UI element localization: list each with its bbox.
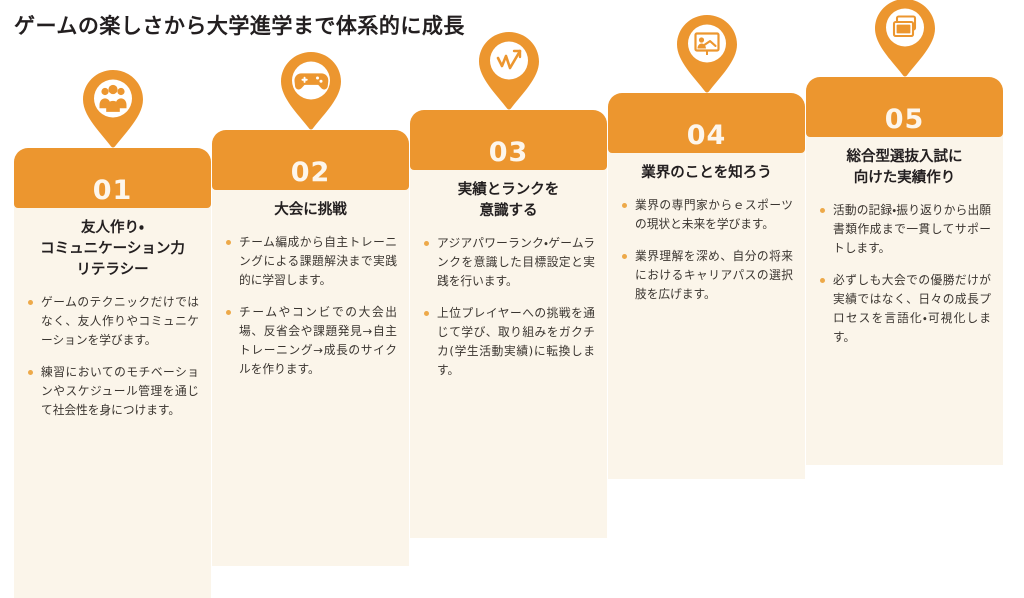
gamepad-icon (280, 52, 342, 130)
card-bullets-04: 業界の専門家からｅスポーツの現状と未来を学びます。 業界理解を深め、自分の将来に… (620, 196, 793, 304)
card-title-01: 友人作り・ コミュニケーション力 リテラシー (26, 218, 199, 281)
card-number-03: 03 (410, 139, 607, 166)
people-group-icon (82, 70, 144, 148)
list-item: チーム編成から自主トレーニングによる課題解決まで実践的に学習します。 (224, 233, 397, 290)
list-item: ゲームのテクニックだけではなく、友人作りやコミュニケーションを学びます。 (26, 293, 199, 350)
list-item: 上位プレイヤーへの挑戦を通じて学び、取り組みをガクチカ(学生活動実績)に転換しま… (422, 304, 595, 380)
trend-chart-icon (478, 32, 540, 110)
card-title-05: 総合型選抜入試に 向けた実績作り (818, 147, 991, 189)
stacked-windows-icon (874, 0, 936, 77)
card-bullets-02: チーム編成から自主トレーニングによる課題解決まで実践的に学習します。 チームやコ… (224, 233, 397, 379)
roadmap-cards: 01 友人作り・ コミュニケーション力 リテラシー ゲームのテクニックだけではな… (0, 55, 1024, 563)
card-title-02: 大会に挑戦 (224, 200, 397, 221)
list-item: 練習においてのモチベーションやスケジュール管理を通じて社会性を身につけます。 (26, 363, 199, 420)
card-header-01: 01 (14, 148, 211, 208)
card-header-04: 04 (608, 93, 805, 153)
card-number-02: 02 (212, 159, 409, 186)
list-item: チームやコンビでの大会出場、反省会や課題発見→自主トレーニング→成長のサイクルを… (224, 303, 397, 379)
card-header-05: 05 (806, 77, 1003, 137)
page-title: ゲームの楽しさから大学進学まで体系的に成長 (14, 10, 465, 40)
list-item: 必ずしも大会での優勝だけが実績ではなく、日々の成長プロセスを言語化・可視化します… (818, 271, 991, 347)
list-item: 活動の記録・振り返りから出願書類作成まで一貫してサポートします。 (818, 201, 991, 258)
card-bullets-03: アジアパワーランク・ゲームランクを意識した目標設定と実践を行います。 上位プレイ… (422, 234, 595, 380)
card-bullets-05: 活動の記録・振り返りから出願書類作成まで一貫してサポートします。 必ずしも大会で… (818, 201, 991, 347)
card-header-02: 02 (212, 130, 409, 190)
card-title-04: 業界のことを知ろう (620, 163, 793, 184)
card-header-03: 03 (410, 110, 607, 170)
list-item: アジアパワーランク・ゲームランクを意識した目標設定と実践を行います。 (422, 234, 595, 291)
card-body-02: 大会に挑戦 チーム編成から自主トレーニングによる課題解決まで実践的に学習します。… (212, 186, 409, 566)
card-number-01: 01 (14, 177, 211, 204)
list-item: 業界の専門家からｅスポーツの現状と未来を学びます。 (620, 196, 793, 234)
card-bullets-01: ゲームのテクニックだけではなく、友人作りやコミュニケーションを学びます。 練習に… (26, 293, 199, 420)
card-number-04: 04 (608, 122, 805, 149)
presentation-board-icon (676, 15, 738, 93)
card-number-05: 05 (806, 106, 1003, 133)
card-body-04: 業界のことを知ろう 業界の専門家からｅスポーツの現状と未来を学びます。 業界理解… (608, 149, 805, 479)
card-body-05: 総合型選抜入試に 向けた実績作り 活動の記録・振り返りから出願書類作成まで一貫し… (806, 133, 1003, 465)
card-title-03: 実績とランクを 意識する (422, 180, 595, 222)
card-body-01: 友人作り・ コミュニケーション力 リテラシー ゲームのテクニックだけではなく、友… (14, 204, 211, 598)
list-item: 業界理解を深め、自分の将来におけるキャリアパスの選択肢を広げます。 (620, 247, 793, 304)
card-body-03: 実績とランクを 意識する アジアパワーランク・ゲームランクを意識した目標設定と実… (410, 166, 607, 538)
